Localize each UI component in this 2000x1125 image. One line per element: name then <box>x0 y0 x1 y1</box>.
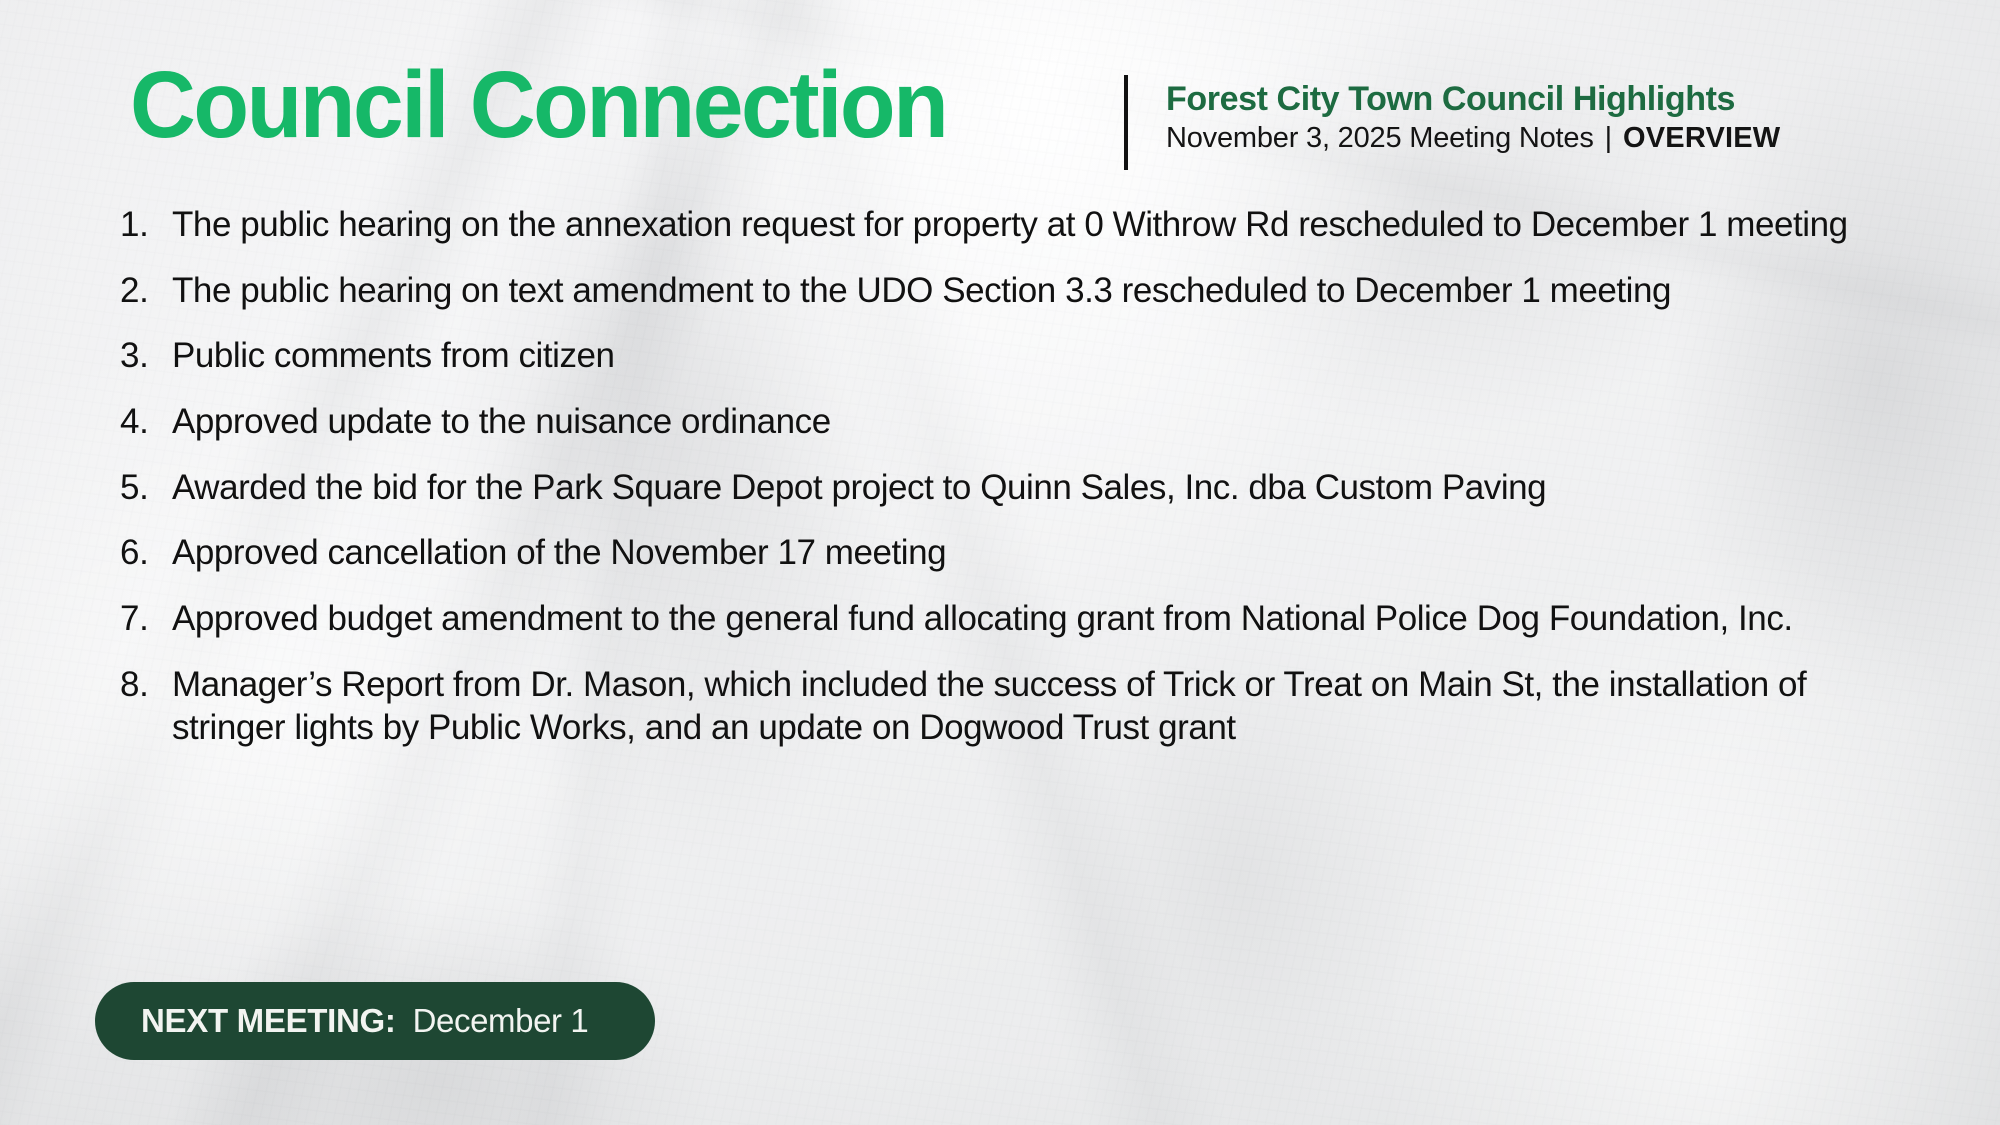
page-title: Council Connection <box>130 58 946 153</box>
list-item-text: Approved update to the nuisance ordinanc… <box>172 401 1852 444</box>
list-item: 8. Manager’s Report from Dr. Mason, whic… <box>120 664 1920 749</box>
list-item-number: 1. <box>120 204 172 247</box>
header-meta-tag: OVERVIEW <box>1623 122 1780 155</box>
list-item-number: 5. <box>120 467 172 510</box>
header-meta: November 3, 2025 Meeting Notes | OVERVIE… <box>1166 122 1866 155</box>
list-item-text: Approved budget amendment to the general… <box>172 598 1902 641</box>
next-meeting-badge: NEXT MEETING: December 1 <box>95 982 655 1060</box>
header-meta-date: November 3, 2025 Meeting Notes <box>1166 122 1594 155</box>
list-item-number: 3. <box>120 335 172 378</box>
next-meeting-value: December 1 <box>413 1002 589 1040</box>
list-item-number: 7. <box>120 598 172 641</box>
list-item-number: 8. <box>120 664 172 707</box>
slide-canvas: Council Connection Forest City Town Coun… <box>0 0 2000 1125</box>
list-item: 3. Public comments from citizen <box>120 335 1920 378</box>
list-item-text: Public comments from citizen <box>172 335 1852 378</box>
header-vertical-divider <box>1124 75 1128 170</box>
slide-content: Council Connection Forest City Town Coun… <box>0 0 2000 1125</box>
list-item-number: 2. <box>120 270 172 313</box>
list-item-text: Manager’s Report from Dr. Mason, which i… <box>172 664 1902 749</box>
list-item-number: 4. <box>120 401 172 444</box>
list-item: 1. The public hearing on the annexation … <box>120 204 1920 247</box>
header-meta-separator: | <box>1594 122 1623 155</box>
slide-header: Council Connection Forest City Town Coun… <box>0 0 2000 190</box>
list-item-text: Awarded the bid for the Park Square Depo… <box>172 467 1852 510</box>
list-item-text: Approved cancellation of the November 17… <box>172 532 1852 575</box>
header-subtitle: Forest City Town Council Highlights <box>1166 80 1866 118</box>
list-item: 4. Approved update to the nuisance ordin… <box>120 401 1920 444</box>
next-meeting-label: NEXT MEETING: <box>141 1002 396 1040</box>
list-item: 6. Approved cancellation of the November… <box>120 532 1920 575</box>
list-item: 7. Approved budget amendment to the gene… <box>120 598 1920 641</box>
highlights-list: 1. The public hearing on the annexation … <box>120 204 1920 772</box>
header-right-block: Forest City Town Council Highlights Nove… <box>1166 80 1866 155</box>
list-item: 5. Awarded the bid for the Park Square D… <box>120 467 1920 510</box>
list-item-text: The public hearing on the annexation req… <box>172 204 1852 247</box>
list-item-number: 6. <box>120 532 172 575</box>
list-item-text: The public hearing on text amendment to … <box>172 270 1902 313</box>
list-item: 2. The public hearing on text amendment … <box>120 270 1920 313</box>
